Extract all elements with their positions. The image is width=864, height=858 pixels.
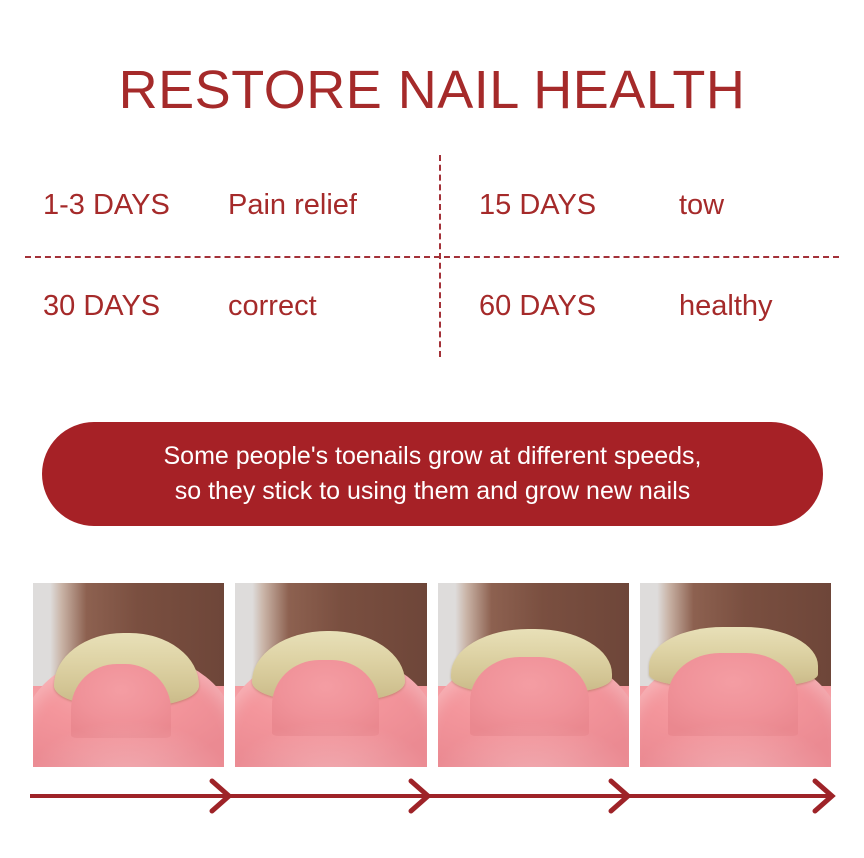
info-banner: Some people's toenails grow at different… [42,422,823,526]
photo-highlight [33,583,224,767]
schedule-days-60: 60 DAYS [479,290,679,323]
page-title: RESTORE NAIL HEALTH [0,62,864,119]
info-banner-text: Some people's toenails grow at different… [138,439,728,510]
toenail-photo-stage-1 [33,583,224,767]
schedule-result-pain-relief: Pain relief [228,189,357,222]
treatment-schedule-table: 1-3 DAYS Pain relief 15 DAYS tow 30 DAYS… [25,155,839,357]
photo-highlight [438,583,629,767]
promo-graphic: RESTORE NAIL HEALTH 1-3 DAYS Pain relief… [0,0,864,858]
progress-timeline-arrow [28,776,836,816]
schedule-days-30: 30 DAYS [43,290,228,323]
schedule-result-healthy: healthy [679,290,773,323]
schedule-cell-r2c2: 60 DAYS healthy [432,256,839,357]
schedule-days-15: 15 DAYS [479,189,679,222]
toenail-photo-stage-4 [640,583,831,767]
photo-highlight [235,583,426,767]
schedule-result-correct: correct [228,290,317,323]
progress-photo-strip [33,583,831,767]
schedule-days-1-3: 1-3 DAYS [43,189,228,222]
vertical-dashed-divider [439,155,441,357]
right-arrow-icon [28,776,836,816]
info-banner-line-2: so they stick to using them and grow new… [175,477,691,505]
schedule-cell-r2c1: 30 DAYS correct [25,256,432,357]
schedule-cell-r1c2: 15 DAYS tow [432,155,839,256]
toenail-photo-stage-3 [438,583,629,767]
photo-highlight [640,583,831,767]
horizontal-dashed-divider [25,256,839,258]
schedule-cell-r1c1: 1-3 DAYS Pain relief [25,155,432,256]
info-banner-line-1: Some people's toenails grow at different… [164,442,702,470]
toenail-photo-stage-2 [235,583,426,767]
schedule-result-tow: tow [679,189,724,222]
